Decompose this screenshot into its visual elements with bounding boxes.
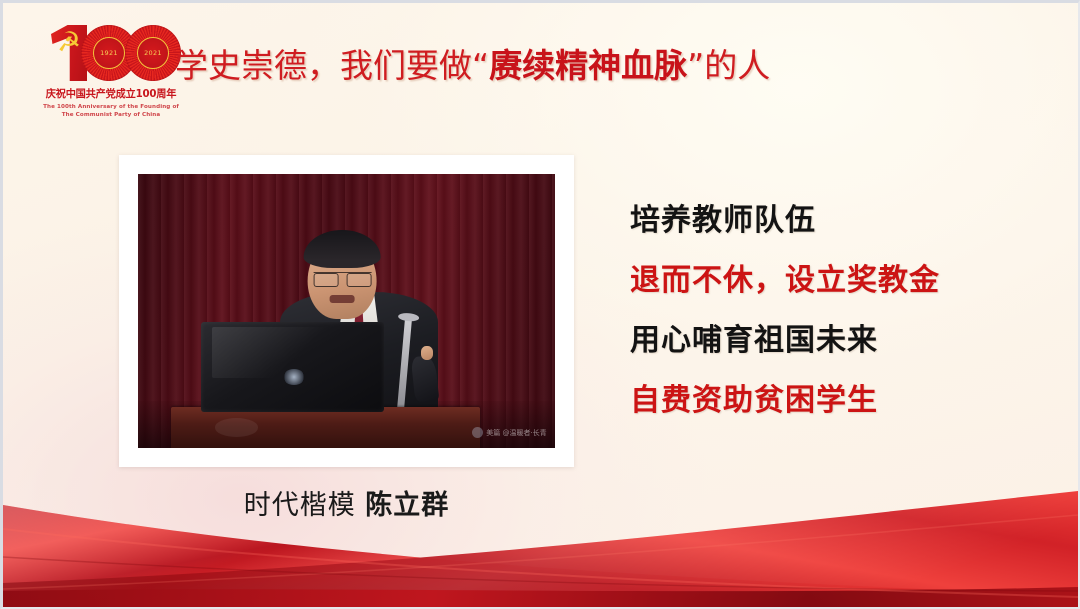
logo-mark: ☭ 1921 2021 xyxy=(37,21,185,83)
watermark-badge-icon xyxy=(472,427,483,438)
photo-person-arm xyxy=(411,355,439,403)
title-suffix: 的人 xyxy=(704,46,770,85)
photo-frame: 美篇 @温暖者·长青 xyxy=(119,155,574,467)
photo-person-mouth xyxy=(330,295,355,302)
logo-chinese-caption: 庆祝中国共产党成立100周年 xyxy=(39,86,183,101)
slide-title: 学史崇德，我们要做“赓续精神血脉”的人 xyxy=(175,43,770,89)
ribbon-crease-1 xyxy=(3,529,1078,597)
title-quote-open: “ xyxy=(472,46,489,85)
logo-year-end: 2021 xyxy=(137,37,169,69)
laptop-brand-logo-icon xyxy=(283,369,305,385)
photo-person-head xyxy=(308,240,377,319)
hammer-sickle-icon: ☭ xyxy=(53,27,84,58)
ribbon-crease-3 xyxy=(3,557,1078,591)
title-prefix: 学史崇德，我们要做 xyxy=(175,46,472,85)
bullet-item-2: 退而不休，设立奖教金 xyxy=(630,251,1050,311)
logo-year-start: 1921 xyxy=(93,37,125,69)
title-quote-close: ” xyxy=(687,46,704,85)
watermark-text: 美篇 @温暖者·长青 xyxy=(486,428,546,438)
photo-podium xyxy=(171,407,480,448)
title-highlight: 赓续精神血脉 xyxy=(489,46,687,85)
ribbon-crease-2 xyxy=(3,515,1078,589)
photo-watermark: 美篇 @温暖者·长青 xyxy=(472,427,546,438)
cpc-100th-anniversary-logo: ☭ 1921 2021 庆祝中国共产党成立100周年 The 100th Ann… xyxy=(37,21,185,117)
logo-numeral-zero-second: 2021 xyxy=(125,25,181,81)
photo-person-hair xyxy=(304,230,381,268)
bullet-item-1: 培养教师队伍 xyxy=(630,191,1050,251)
photo-caption: 时代楷模 陈立群 xyxy=(119,483,574,522)
ribbon-layer-bottom xyxy=(3,587,1078,607)
bullet-list: 培养教师队伍 退而不休，设立奖教金 用心哺育祖国未来 自费资助贫困学生 xyxy=(630,191,1050,431)
caption-name: 陈立群 xyxy=(365,490,449,521)
caption-label: 时代楷模 xyxy=(244,490,356,521)
logo-english-line-1: The 100th Anniversary of the Founding of xyxy=(37,103,185,111)
photo-person-hand xyxy=(421,346,434,360)
logo-english-caption: The 100th Anniversary of the Founding of… xyxy=(37,103,185,119)
photo-laptop xyxy=(201,322,384,412)
slide-canvas: ☭ 1921 2021 庆祝中国共产党成立100周年 The 100th Ann… xyxy=(0,0,1080,609)
bullet-item-3: 用心哺育祖国未来 xyxy=(630,311,1050,371)
speaker-photo: 美篇 @温暖者·长青 xyxy=(138,174,555,448)
glasses-icon xyxy=(313,272,371,286)
bullet-item-4: 自费资助贫困学生 xyxy=(630,371,1050,431)
logo-english-line-2: The Communist Party of China xyxy=(37,111,185,119)
